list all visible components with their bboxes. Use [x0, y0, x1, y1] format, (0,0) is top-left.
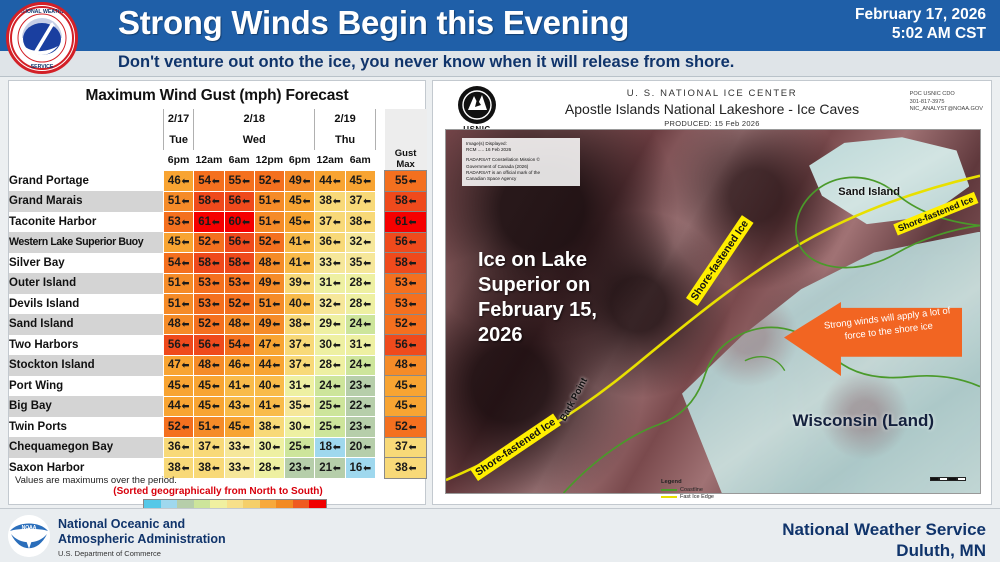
- gust-cell: 51⬅: [254, 294, 284, 315]
- gust-cell: 24⬅: [345, 355, 375, 376]
- gust-cell: 51⬅: [194, 417, 224, 438]
- gust-cell: 31⬅: [315, 273, 345, 294]
- gust-cell: 45⬅: [163, 232, 193, 253]
- gust-cell: 48⬅: [194, 355, 224, 376]
- location-name: Stockton Island: [9, 355, 163, 376]
- map-produced-date: PRODUCED: 15 Feb 2026: [433, 119, 991, 128]
- svg-text:NOAA: NOAA: [22, 525, 37, 531]
- gust-cell: 28⬅: [254, 458, 284, 479]
- gust-cell: 21⬅: [315, 458, 345, 479]
- gust-cell: 37⬅: [285, 355, 315, 376]
- gust-max-gap: [375, 376, 384, 397]
- gust-cell: 46⬅: [224, 355, 254, 376]
- gust-cell: 41⬅: [285, 253, 315, 274]
- location-name: Western Lake Superior Buoy: [9, 232, 163, 253]
- gust-cell: 32⬅: [315, 294, 345, 315]
- gust-cell: 23⬅: [345, 376, 375, 397]
- map-legend-title: Legend: [661, 479, 682, 485]
- gust-max-cell: 58⬅: [385, 253, 427, 274]
- page-title: Strong Winds Begin this Evening: [118, 4, 629, 42]
- gust-cell: 44⬅: [163, 396, 193, 417]
- location-name: Devils Island: [9, 294, 163, 315]
- gust-cell: 60⬅: [224, 212, 254, 233]
- location-name: Big Bay: [9, 396, 163, 417]
- gust-cell: 35⬅: [345, 253, 375, 274]
- gust-max-cell: 56⬅: [385, 335, 427, 356]
- sand-island-label: Sand Island: [838, 186, 900, 199]
- gust-cell: 48⬅: [163, 314, 193, 335]
- location-name: Silver Bay: [9, 253, 163, 274]
- table-row: Taconite Harbor53⬅61⬅60⬅51⬅45⬅37⬅38⬅61⬅: [9, 212, 427, 233]
- table-row: Stockton Island47⬅48⬅46⬅44⬅37⬅28⬅24⬅48⬅: [9, 355, 427, 376]
- gust-cell: 25⬅: [315, 417, 345, 438]
- gust-cell: 36⬅: [163, 437, 193, 458]
- gust-cell: 45⬅: [285, 212, 315, 233]
- gust-cell: 23⬅: [285, 458, 315, 479]
- location-name: Sand Island: [9, 314, 163, 335]
- gust-max-cell: 53⬅: [385, 273, 427, 294]
- header-datetime: February 17, 2026 5:02 AM CST: [855, 5, 986, 43]
- table-row: Silver Bay54⬅58⬅58⬅48⬅41⬅33⬅35⬅58⬅: [9, 253, 427, 274]
- location-name: Grand Marais: [9, 191, 163, 212]
- gust-max-gap: [375, 458, 384, 479]
- gust-cell: 45⬅: [194, 396, 224, 417]
- gust-cell: 45⬅: [163, 376, 193, 397]
- gust-cell: 61⬅: [194, 212, 224, 233]
- table-row: Port Wing45⬅45⬅41⬅40⬅31⬅24⬅23⬅45⬅: [9, 376, 427, 397]
- table-row: Grand Portage46⬅54⬅55⬅52⬅49⬅44⬅45⬅55⬅: [9, 171, 427, 192]
- national-weather-service-seal-icon: NATIONAL WEATHER SERVICE: [6, 2, 78, 74]
- gust-cell: 18⬅: [315, 437, 345, 458]
- gust-cell: 52⬅: [254, 232, 284, 253]
- gust-max-cell: 52⬅: [385, 417, 427, 438]
- gust-max-cell: 55⬅: [385, 171, 427, 192]
- location-name: Two Harbors: [9, 335, 163, 356]
- gust-cell: 32⬅: [345, 232, 375, 253]
- bark-point-coastline: [745, 357, 785, 371]
- gust-max-gap: [375, 396, 384, 417]
- time-header-6: 6am: [345, 150, 375, 171]
- gust-cell: 16⬅: [345, 458, 375, 479]
- gust-cell: 53⬅: [163, 212, 193, 233]
- table-row: Sand Island48⬅52⬅48⬅49⬅38⬅29⬅24⬅52⬅: [9, 314, 427, 335]
- gust-cell: 38⬅: [345, 212, 375, 233]
- gust-cell: 52⬅: [254, 171, 284, 192]
- gust-cell: 30⬅: [254, 437, 284, 458]
- gust-cell: 37⬅: [345, 191, 375, 212]
- table-row: Chequamegon Bay36⬅37⬅33⬅30⬅25⬅18⬅20⬅37⬅: [9, 437, 427, 458]
- gust-cell: 23⬅: [345, 417, 375, 438]
- gust-cell: 54⬅: [163, 253, 193, 274]
- gust-max-spacer-3: [375, 150, 384, 171]
- gust-cell: 38⬅: [254, 417, 284, 438]
- gust-max-header: Gust Max: [385, 109, 427, 171]
- gust-cell: 56⬅: [163, 335, 193, 356]
- header-spacer-3: [9, 150, 163, 171]
- gust-cell: 29⬅: [315, 314, 345, 335]
- date-header-1: 2/18: [194, 109, 315, 130]
- ice-date-annotation: Ice on Lake Superior on February 15, 202…: [478, 248, 628, 348]
- gust-cell: 28⬅: [345, 273, 375, 294]
- gust-cell: 51⬅: [163, 191, 193, 212]
- forecast-table-body: Grand Portage46⬅54⬅55⬅52⬅49⬅44⬅45⬅55⬅Gra…: [9, 171, 427, 479]
- gust-cell: 44⬅: [315, 171, 345, 192]
- gust-max-gap: [375, 232, 384, 253]
- gust-cell: 55⬅: [224, 171, 254, 192]
- gust-cell: 58⬅: [194, 253, 224, 274]
- header-spacer: [9, 109, 163, 130]
- gust-cell: 28⬅: [345, 294, 375, 315]
- gust-cell: 51⬅: [163, 294, 193, 315]
- gust-cell: 30⬅: [285, 417, 315, 438]
- gust-max-gap: [375, 253, 384, 274]
- gust-cell: 43⬅: [224, 396, 254, 417]
- gust-cell: 48⬅: [254, 253, 284, 274]
- gust-cell: 41⬅: [285, 232, 315, 253]
- fast-ice-edge-swatch-icon: [661, 496, 677, 498]
- noaa-seal-icon: NOAA: [8, 515, 50, 557]
- gust-cell: 35⬅: [285, 396, 315, 417]
- wind-gust-forecast-panel: Maximum Wind Gust (mph) Forecast 2/17 2/…: [8, 80, 426, 505]
- gust-max-gap: [375, 171, 384, 192]
- time-header-3: 12pm: [254, 150, 284, 171]
- map-title: Apostle Islands National Lakeshore - Ice…: [433, 101, 991, 117]
- gust-cell: 49⬅: [254, 273, 284, 294]
- gust-cell: 49⬅: [285, 171, 315, 192]
- date-header-2: 2/19: [315, 109, 376, 130]
- gust-cell: 37⬅: [285, 335, 315, 356]
- gust-max-gap: [375, 314, 384, 335]
- gust-cell: 40⬅: [254, 376, 284, 397]
- gust-cell: 36⬅: [315, 232, 345, 253]
- table-row: Western Lake Superior Buoy45⬅52⬅56⬅52⬅41…: [9, 232, 427, 253]
- location-name: Port Wing: [9, 376, 163, 397]
- gust-max-gap: [375, 294, 384, 315]
- gust-cell: 58⬅: [224, 253, 254, 274]
- gust-cell: 31⬅: [345, 335, 375, 356]
- table-row: Twin Ports52⬅51⬅45⬅38⬅30⬅25⬅23⬅52⬅: [9, 417, 427, 438]
- location-name: Outer Island: [9, 273, 163, 294]
- page-footer: NOAA National Oceanic and Atmospheric Ad…: [0, 508, 1000, 562]
- gust-cell: 44⬅: [254, 355, 284, 376]
- svg-text:SERVICE: SERVICE: [31, 64, 54, 70]
- image-metadata-box: Image(s) Displayed: RCM ..... 16 Feb 202…: [462, 138, 580, 186]
- gust-max-cell: 37⬅: [385, 437, 427, 458]
- gust-cell: 41⬅: [224, 376, 254, 397]
- gust-max-cell: 38⬅: [385, 458, 427, 479]
- gust-cell: 25⬅: [285, 437, 315, 458]
- location-name: Twin Ports: [9, 417, 163, 438]
- noaa-agency-name: National Oceanic and Atmospheric Adminis…: [58, 517, 226, 547]
- gust-max-cell: 56⬅: [385, 232, 427, 253]
- map-legend: Legend Coastline Fast Ice Edge: [661, 479, 714, 500]
- gust-cell: 52⬅: [194, 314, 224, 335]
- nws-office: National Weather Service Duluth, MN: [782, 519, 986, 561]
- gust-cell: 54⬅: [194, 171, 224, 192]
- legend-row-fast-ice: Fast Ice Edge: [661, 494, 714, 500]
- poc-line-2: 301-817-3975: [910, 99, 983, 107]
- strong-winds-arrow-callout: Strong winds will apply a lot of force t…: [784, 302, 962, 376]
- metadata-line-2: RCM ..... 16 Feb 2026: [466, 147, 576, 153]
- gust-max-cell: 58⬅: [385, 191, 427, 212]
- metadata-line-6: Canadian Space Agency: [466, 176, 576, 182]
- gust-cell: 49⬅: [254, 314, 284, 335]
- gust-cell: 45⬅: [194, 376, 224, 397]
- gust-cell: 24⬅: [315, 376, 345, 397]
- gust-cell: 52⬅: [163, 417, 193, 438]
- gust-cell: 41⬅: [254, 396, 284, 417]
- gust-cell: 54⬅: [224, 335, 254, 356]
- gust-cell: 47⬅: [254, 335, 284, 356]
- poc-line-3: NIC_ANALYST@NOAA.GOV: [910, 106, 983, 114]
- gust-max-gap: [375, 212, 384, 233]
- gust-max-cell: 45⬅: [385, 376, 427, 397]
- coastline-swatch-icon: [661, 489, 677, 491]
- location-name: Grand Portage: [9, 171, 163, 192]
- poc-contact-info: POC USNIC CDO 301-817-3975 NIC_ANALYST@N…: [910, 91, 983, 114]
- gust-cell: 47⬅: [163, 355, 193, 376]
- gust-cell: 20⬅: [345, 437, 375, 458]
- legend-fast-ice-label: Fast Ice Edge: [680, 494, 714, 500]
- time-header-4: 6pm: [285, 150, 315, 171]
- gust-max-cell: 45⬅: [385, 396, 427, 417]
- gust-cell: 53⬅: [224, 273, 254, 294]
- gust-cell: 52⬅: [224, 294, 254, 315]
- svg-text:NATIONAL WEATHER: NATIONAL WEATHER: [15, 9, 69, 15]
- day-header-2: Thu: [315, 130, 376, 151]
- table-header-time-row: 6pm12am6am12pm6pm12am6am: [9, 150, 427, 171]
- gust-cell: 45⬅: [224, 417, 254, 438]
- usnic-logo-icon: USNIC: [455, 86, 499, 130]
- gust-cell: 31⬅: [285, 376, 315, 397]
- gust-cell: 30⬅: [315, 335, 345, 356]
- gust-max-cell: 53⬅: [385, 294, 427, 315]
- day-header-0: Tue: [163, 130, 193, 151]
- gust-cell: 40⬅: [285, 294, 315, 315]
- time-header-5: 12am: [315, 150, 345, 171]
- gust-cell: 38⬅: [285, 314, 315, 335]
- time-header-0: 6pm: [163, 150, 193, 171]
- gust-cell: 38⬅: [315, 191, 345, 212]
- gust-max-spacer: [375, 109, 384, 130]
- gust-cell: 58⬅: [194, 191, 224, 212]
- table-header-date-row: 2/17 2/18 2/19 Gust Max: [9, 109, 427, 130]
- poc-line-1: POC USNIC CDO: [910, 91, 983, 99]
- noaa-line-1: National Oceanic and: [58, 517, 226, 532]
- table-row: Devils Island51⬅53⬅52⬅51⬅40⬅32⬅28⬅53⬅: [9, 294, 427, 315]
- gust-cell: 45⬅: [285, 191, 315, 212]
- gust-max-cell: 48⬅: [385, 355, 427, 376]
- table-row: Two Harbors56⬅56⬅54⬅47⬅37⬅30⬅31⬅56⬅: [9, 335, 427, 356]
- gust-cell: 28⬅: [315, 355, 345, 376]
- gust-cell: 53⬅: [194, 294, 224, 315]
- gust-cell: 46⬅: [163, 171, 193, 192]
- table-sort-note: (Sorted geographically from North to Sou…: [9, 486, 427, 497]
- time-header-2: 6am: [224, 150, 254, 171]
- header-spacer-2: [9, 130, 163, 151]
- gust-cell: 38⬅: [194, 458, 224, 479]
- nws-line-1: National Weather Service: [782, 519, 986, 540]
- gust-cell: 39⬅: [285, 273, 315, 294]
- gust-cell: 24⬅: [345, 314, 375, 335]
- gust-cell: 56⬅: [224, 232, 254, 253]
- gust-max-gap: [375, 273, 384, 294]
- gust-cell: 56⬅: [194, 335, 224, 356]
- location-name: Taconite Harbor: [9, 212, 163, 233]
- table-row: Outer Island51⬅53⬅53⬅49⬅39⬅31⬅28⬅53⬅: [9, 273, 427, 294]
- gust-cell: 48⬅: [224, 314, 254, 335]
- time-header-1: 12am: [194, 150, 224, 171]
- ice-map-panel: USNIC U. S. NATIONAL ICE CENTER Apostle …: [432, 80, 992, 505]
- date-header-0: 2/17: [163, 109, 193, 130]
- gust-max-gap: [375, 335, 384, 356]
- gust-cell: 37⬅: [315, 212, 345, 233]
- gust-max-cell: 52⬅: [385, 314, 427, 335]
- gust-max-cell: 61⬅: [385, 212, 427, 233]
- legend-coastline-label: Coastline: [680, 487, 703, 493]
- gust-max-gap: [375, 437, 384, 458]
- day-header-1: Wed: [194, 130, 315, 151]
- legend-row-coastline: Coastline: [661, 487, 714, 493]
- map-agency: U. S. NATIONAL ICE CENTER: [433, 81, 991, 99]
- gust-max-gap: [375, 355, 384, 376]
- gust-cell: 33⬅: [315, 253, 345, 274]
- table-row: Grand Marais51⬅58⬅56⬅51⬅45⬅38⬅37⬅58⬅: [9, 191, 427, 212]
- gust-cell: 51⬅: [254, 191, 284, 212]
- gust-cell: 25⬅: [315, 396, 345, 417]
- table-note: Values are maximums over the period.: [15, 475, 177, 486]
- nws-line-2: Duluth, MN: [782, 540, 986, 561]
- header-subtitle: Don't venture out onto the ice, you neve…: [118, 53, 734, 72]
- gust-cell: 33⬅: [224, 458, 254, 479]
- table-header-day-row: Tue Wed Thu: [9, 130, 427, 151]
- satellite-radar-image: Image(s) Displayed: RCM ..... 16 Feb 202…: [445, 129, 981, 494]
- gust-max-gap: [375, 191, 384, 212]
- gust-cell: 45⬅: [345, 171, 375, 192]
- forecast-table-title: Maximum Wind Gust (mph) Forecast: [9, 81, 425, 105]
- gust-cell: 51⬅: [254, 212, 284, 233]
- gust-cell: 33⬅: [224, 437, 254, 458]
- header-time: 5:02 AM CST: [855, 24, 986, 43]
- location-name: Chequamegon Bay: [9, 437, 163, 458]
- gust-max-gap: [375, 417, 384, 438]
- map-distance-scale: [930, 477, 966, 481]
- header-date: February 17, 2026: [855, 5, 986, 24]
- gust-cell: 53⬅: [194, 273, 224, 294]
- wisconsin-land-label: Wisconsin (Land): [792, 410, 934, 431]
- gust-cell: 51⬅: [163, 273, 193, 294]
- gust-cell: 52⬅: [194, 232, 224, 253]
- noaa-department: U.S. Department of Commerce: [58, 549, 161, 558]
- gust-cell: 22⬅: [345, 396, 375, 417]
- gust-cell: 56⬅: [224, 191, 254, 212]
- table-row: Big Bay44⬅45⬅43⬅41⬅35⬅25⬅22⬅45⬅: [9, 396, 427, 417]
- gust-cell: 37⬅: [194, 437, 224, 458]
- wind-gust-forecast-table: 2/17 2/18 2/19 Gust Max Tue Wed Thu 6pm1…: [9, 109, 427, 479]
- noaa-line-2: Atmospheric Administration: [58, 532, 226, 547]
